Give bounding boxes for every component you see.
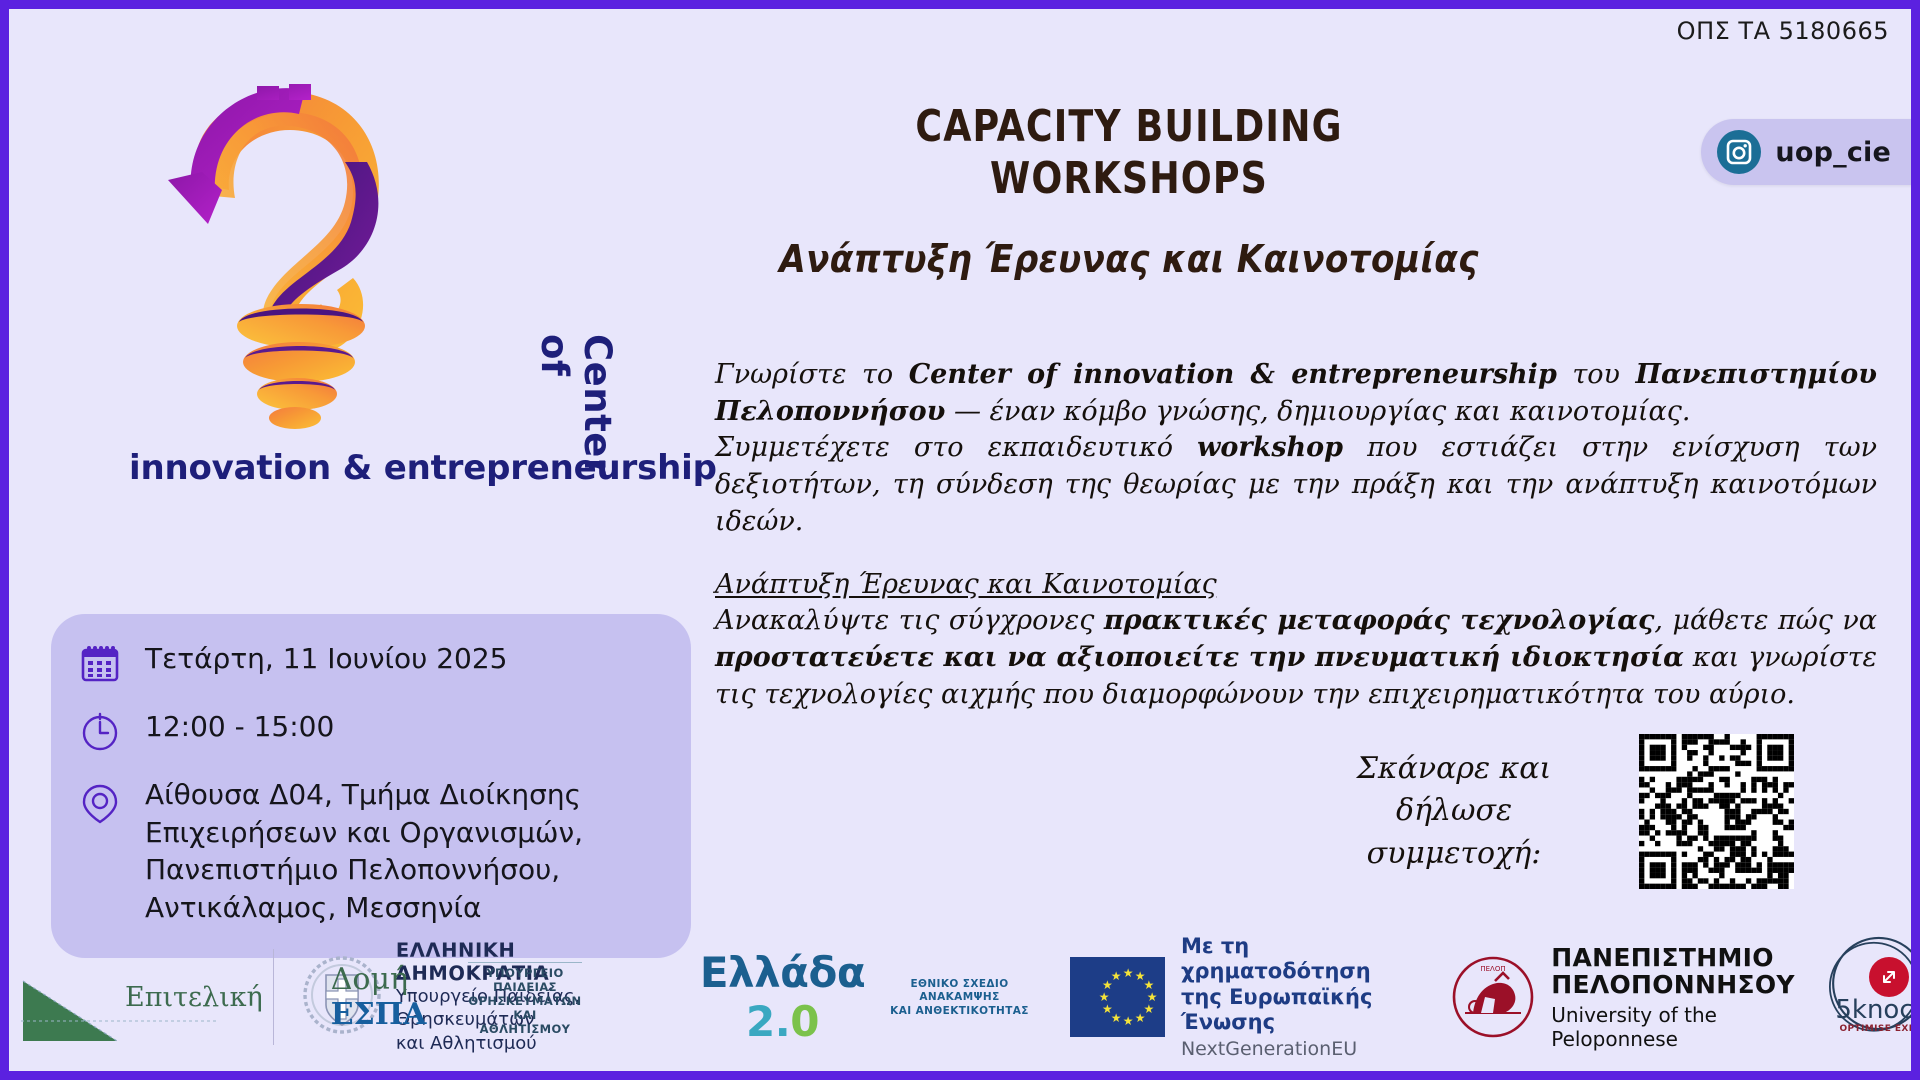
body-copy: Γνωρίστε το Center of innovation & entre… — [715, 357, 1877, 713]
title-line-1: CAPACITY BUILDING — [743, 101, 1516, 153]
info-row-time: 12:00 - 15:00 — [77, 708, 661, 754]
paragraph-1: Γνωρίστε το Center of innovation & entre… — [715, 357, 1877, 430]
5knocks-tagline: OPTIMISE EXPAND — [1825, 1024, 1920, 1034]
eu-line-1: Με τη χρηματοδότηση — [1181, 934, 1417, 984]
eu-flag-icon: ★★★★★★★★★★★★ — [1070, 957, 1165, 1037]
clock-icon — [77, 708, 123, 754]
espa-logo: Επιτελική Δομή ΕΣΠΑ ΥΠΟΥΡΓΕΙΟ ΠΑΙΔΕΙΑΣ Θ… — [47, 959, 257, 1036]
cie-logo: Center of innovation & entrepreneurship — [129, 64, 649, 484]
page-title: CAPACITY BUILDING WORKSHOPS — [743, 101, 1516, 205]
svg-text:ΠΕΛΟΠ: ΠΕΛΟΠ — [1481, 965, 1506, 973]
espa-subtitle: ΥΠΟΥΡΓΕΙΟ ΠΑΙΔΕΙΑΣ ΘΡΗΣΚΕΥΜΑΤΩΝ ΚΑΙ ΑΘΛΗ… — [468, 962, 581, 1036]
eu-funding-text: Με τη χρηματοδότηση της Ευρωπαϊκής Ένωση… — [1181, 934, 1417, 1060]
instagram-badge[interactable]: uop_cie — [1701, 119, 1917, 185]
location-pin-icon — [77, 780, 123, 826]
eu-line-2: της Ευρωπαϊκής Ένωσης — [1181, 985, 1417, 1035]
uop-line-1: ΠΑΝΕΠΙΣΤΗΜΙΟ — [1551, 944, 1795, 972]
5knocks-logo: 5knocks OPTIMISE EXPAND — [1825, 933, 1920, 1061]
instagram-icon — [1717, 130, 1761, 174]
calendar-icon — [77, 640, 123, 686]
eu-funding-logo: ★★★★★★★★★★★★ Με τη χρηματοδότηση της Ευρ… — [1070, 934, 1417, 1060]
footer-divider-1 — [273, 949, 274, 1045]
espa-wave-icon — [21, 975, 221, 1045]
qr-code[interactable] — [1639, 734, 1794, 889]
section-heading: Ανάπτυξη Έρευνας και Καινοτομίας — [715, 541, 1877, 604]
poster-canvas: ΟΠΣ ΤΑ 5180665 uop_cie — [0, 0, 1920, 1080]
5knocks-name: 5knocks — [1825, 995, 1920, 1025]
qr-caption-line-1: Σκάναρε και δήλωσε — [1309, 748, 1599, 833]
uop-line-3: University of the Peloponnese — [1551, 1003, 1795, 1051]
info-time-text: 12:00 - 15:00 — [145, 708, 334, 746]
ellada-subtitle: ΕΘΝΙΚΟ ΣΧΕΔΙΟ ΑΝΑΚΑΜΨΗΣ ΚΑΙ ΑΝΘΕΚΤΙΚΟΤΗΤ… — [885, 978, 1033, 1019]
eu-line-3: NextGenerationEU — [1181, 1038, 1417, 1060]
info-date-text: Τετάρτη, 11 Ιουνίου 2025 — [145, 640, 507, 678]
page-subtitle: Ανάπτυξη Έρευνας και Καινοτομίας — [709, 237, 1549, 281]
ellada-wordmark: Ελλάδα 2.0 — [680, 948, 886, 1046]
ellada-sub-line-2: ΚΑΙ ΑΝΘΕΚΤΙΚΟΤΗΤΑΣ — [885, 1005, 1033, 1019]
logo-base-text: innovation & entrepreneurship — [129, 448, 649, 488]
ellada-2-0-logo: Ελλάδα 2.0 ΕΘΝΙΚΟ ΣΧΕΔΙΟ ΑΝΑΚΑΜΨΗΣ ΚΑΙ Α… — [680, 948, 1034, 1046]
info-row-date: Τετάρτη, 11 Ιουνίου 2025 — [77, 640, 661, 686]
ops-code: ΟΠΣ ΤΑ 5180665 — [1677, 17, 1889, 45]
ellada-sub-line-1: ΕΘΝΙΚΟ ΣΧΕΔΙΟ ΑΝΑΚΑΜΨΗΣ — [885, 978, 1033, 1005]
info-location-text: Αίθουσα Δ04, Τμήμα Διοίκησης Επιχειρήσεω… — [145, 776, 661, 926]
uop-line-2: ΠΕΛΟΠΟΝΝΗΣΟΥ — [1551, 971, 1795, 999]
paragraph-2: Συμμετέχετε στο εκπαιδευτικό workshop πο… — [715, 430, 1877, 540]
arrow-expand-icon — [1869, 957, 1909, 997]
espa-sub-line-2: ΘΡΗΣΚΕΥΜΑΤΩΝ ΚΑΙ ΑΘΛΗΤΙΣΜΟΥ — [468, 994, 581, 1036]
qr-caption-line-2: συμμετοχή: — [1309, 833, 1599, 876]
espa-sub-line-1: ΥΠΟΥΡΓΕΙΟ ΠΑΙΔΕΙΑΣ — [468, 966, 581, 994]
paragraph-3: Ανακαλύψτε τις σύγχρονες πρακτικές μεταφ… — [715, 603, 1877, 713]
info-row-location: Αίθουσα Δ04, Τμήμα Διοίκησης Επιχειρήσεω… — [77, 776, 661, 926]
footer-logos: Επιτελική Δομή ΕΣΠΑ ΥΠΟΥΡΓΕΙΟ ΠΑΙΔΕΙΑΣ Θ… — [9, 927, 1920, 1067]
title-line-2: WORKSHOPS — [743, 153, 1516, 205]
event-info-card: Τετάρτη, 11 Ιουνίου 2025 12:00 - 15:00 Α… — [51, 614, 691, 958]
instagram-handle: uop_cie — [1775, 137, 1891, 168]
qr-caption: Σκάναρε και δήλωσε συμμετοχή: — [1309, 748, 1599, 876]
uop-seal-icon: ΠΕΛΟΠ — [1451, 955, 1535, 1039]
espa-line-2: Δομή ΕΣΠΑ — [331, 962, 427, 1032]
lightbulb-spiral-logo-icon — [139, 64, 429, 444]
uop-text: ΠΑΝΕΠΙΣΤΗΜΙΟ ΠΕΛΟΠΟΝΝΗΣΟΥ University of … — [1551, 944, 1795, 1051]
uop-logo: ΠΕΛΟΠ ΠΑΝΕΠΙΣΤΗΜΙΟ ΠΕΛΟΠΟΝΝΗΣΟΥ Universi… — [1451, 944, 1795, 1051]
qr-registration-block: Σκάναρε και δήλωσε συμμετοχή: — [1309, 734, 1794, 889]
